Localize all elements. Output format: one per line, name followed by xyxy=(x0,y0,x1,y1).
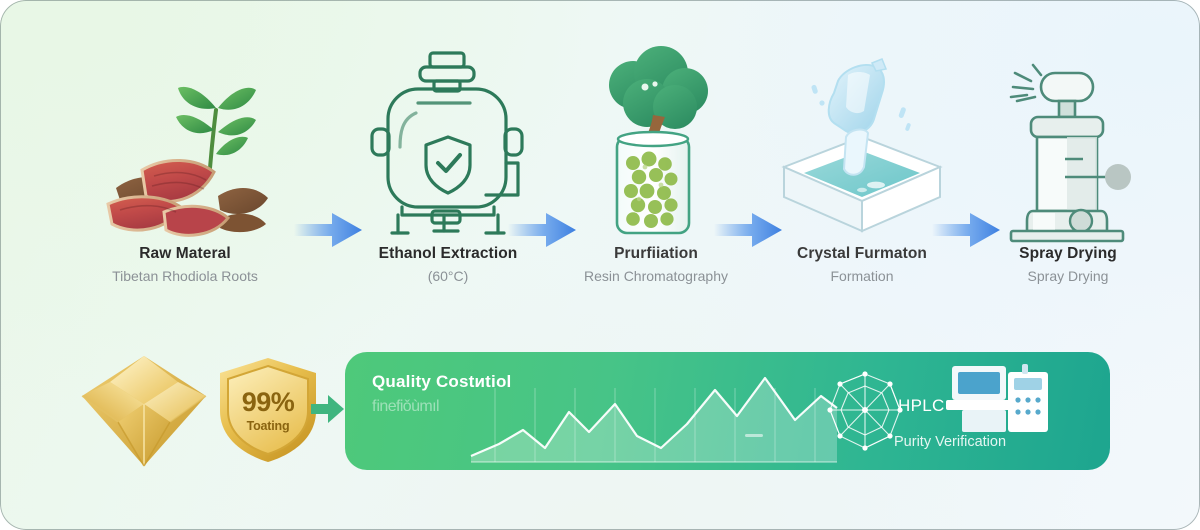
process-stage-spray-drying: Spray Drying Spray Drying xyxy=(968,40,1168,330)
process-flow-row: Raw Materal Tibetan Rhodiola Roots xyxy=(0,40,1200,330)
process-stage-crystal-formation: Crystal Furmaton Formation xyxy=(762,40,962,330)
spray-dryer-icon xyxy=(968,40,1168,245)
process-stage-ethanol-extraction: Ethanol Extraction (60°C) xyxy=(348,40,548,330)
infographic-canvas: Raw Materal Tibetan Rhodiola Roots xyxy=(0,0,1200,530)
stage-subtitle: Tibetan Rhodiola Roots xyxy=(85,269,285,284)
stage-subtitle: Spray Drying xyxy=(968,269,1168,284)
hplc-sublabel: Purity Verification xyxy=(894,434,1006,450)
banner-title: Quality Costиtiol xyxy=(372,372,511,392)
arrow-right-icon xyxy=(310,392,346,426)
dryer-illustration xyxy=(983,43,1153,243)
hplc-block: HPLC Purity Verification xyxy=(886,378,1076,456)
hplc-instrument-icon xyxy=(944,362,1064,440)
gold-gem-icon xyxy=(78,352,210,470)
stage-subtitle: (60°C) xyxy=(348,269,548,284)
stage-title: Spray Drying xyxy=(968,245,1168,262)
quality-control-banner: Quality Costиtiol ﬁnefiǒùmıl HPLC Purity… xyxy=(345,352,1110,470)
gem-illustration xyxy=(78,352,210,470)
line-chart-graphic xyxy=(465,360,845,470)
process-stage-purification: Prurfiiation Resin Chromatography xyxy=(556,40,756,330)
gold-shield-icon: 99% Toating xyxy=(214,355,322,465)
divider-dash xyxy=(745,434,763,437)
tray-illustration xyxy=(772,45,952,240)
banner-subtitle: ﬁnefiǒùmıl xyxy=(372,398,511,416)
column-tree-illustration xyxy=(581,45,731,240)
stage-subtitle: Formation xyxy=(762,269,962,284)
hplc-label: HPLC xyxy=(898,396,945,416)
process-stage-raw-material: Raw Materal Tibetan Rhodiola Roots xyxy=(85,40,285,330)
stage-subtitle: Resin Chromatography xyxy=(556,269,756,284)
badge-caption: Toating xyxy=(214,419,322,433)
stage-title: Raw Materal xyxy=(85,245,285,262)
banner-text-block: Quality Costиtiol ﬁnefiǒùmıl xyxy=(372,372,511,416)
roots-illustration xyxy=(90,48,280,238)
badge-percent: 99% xyxy=(214,387,322,418)
rhodiola-roots-image xyxy=(85,40,285,245)
